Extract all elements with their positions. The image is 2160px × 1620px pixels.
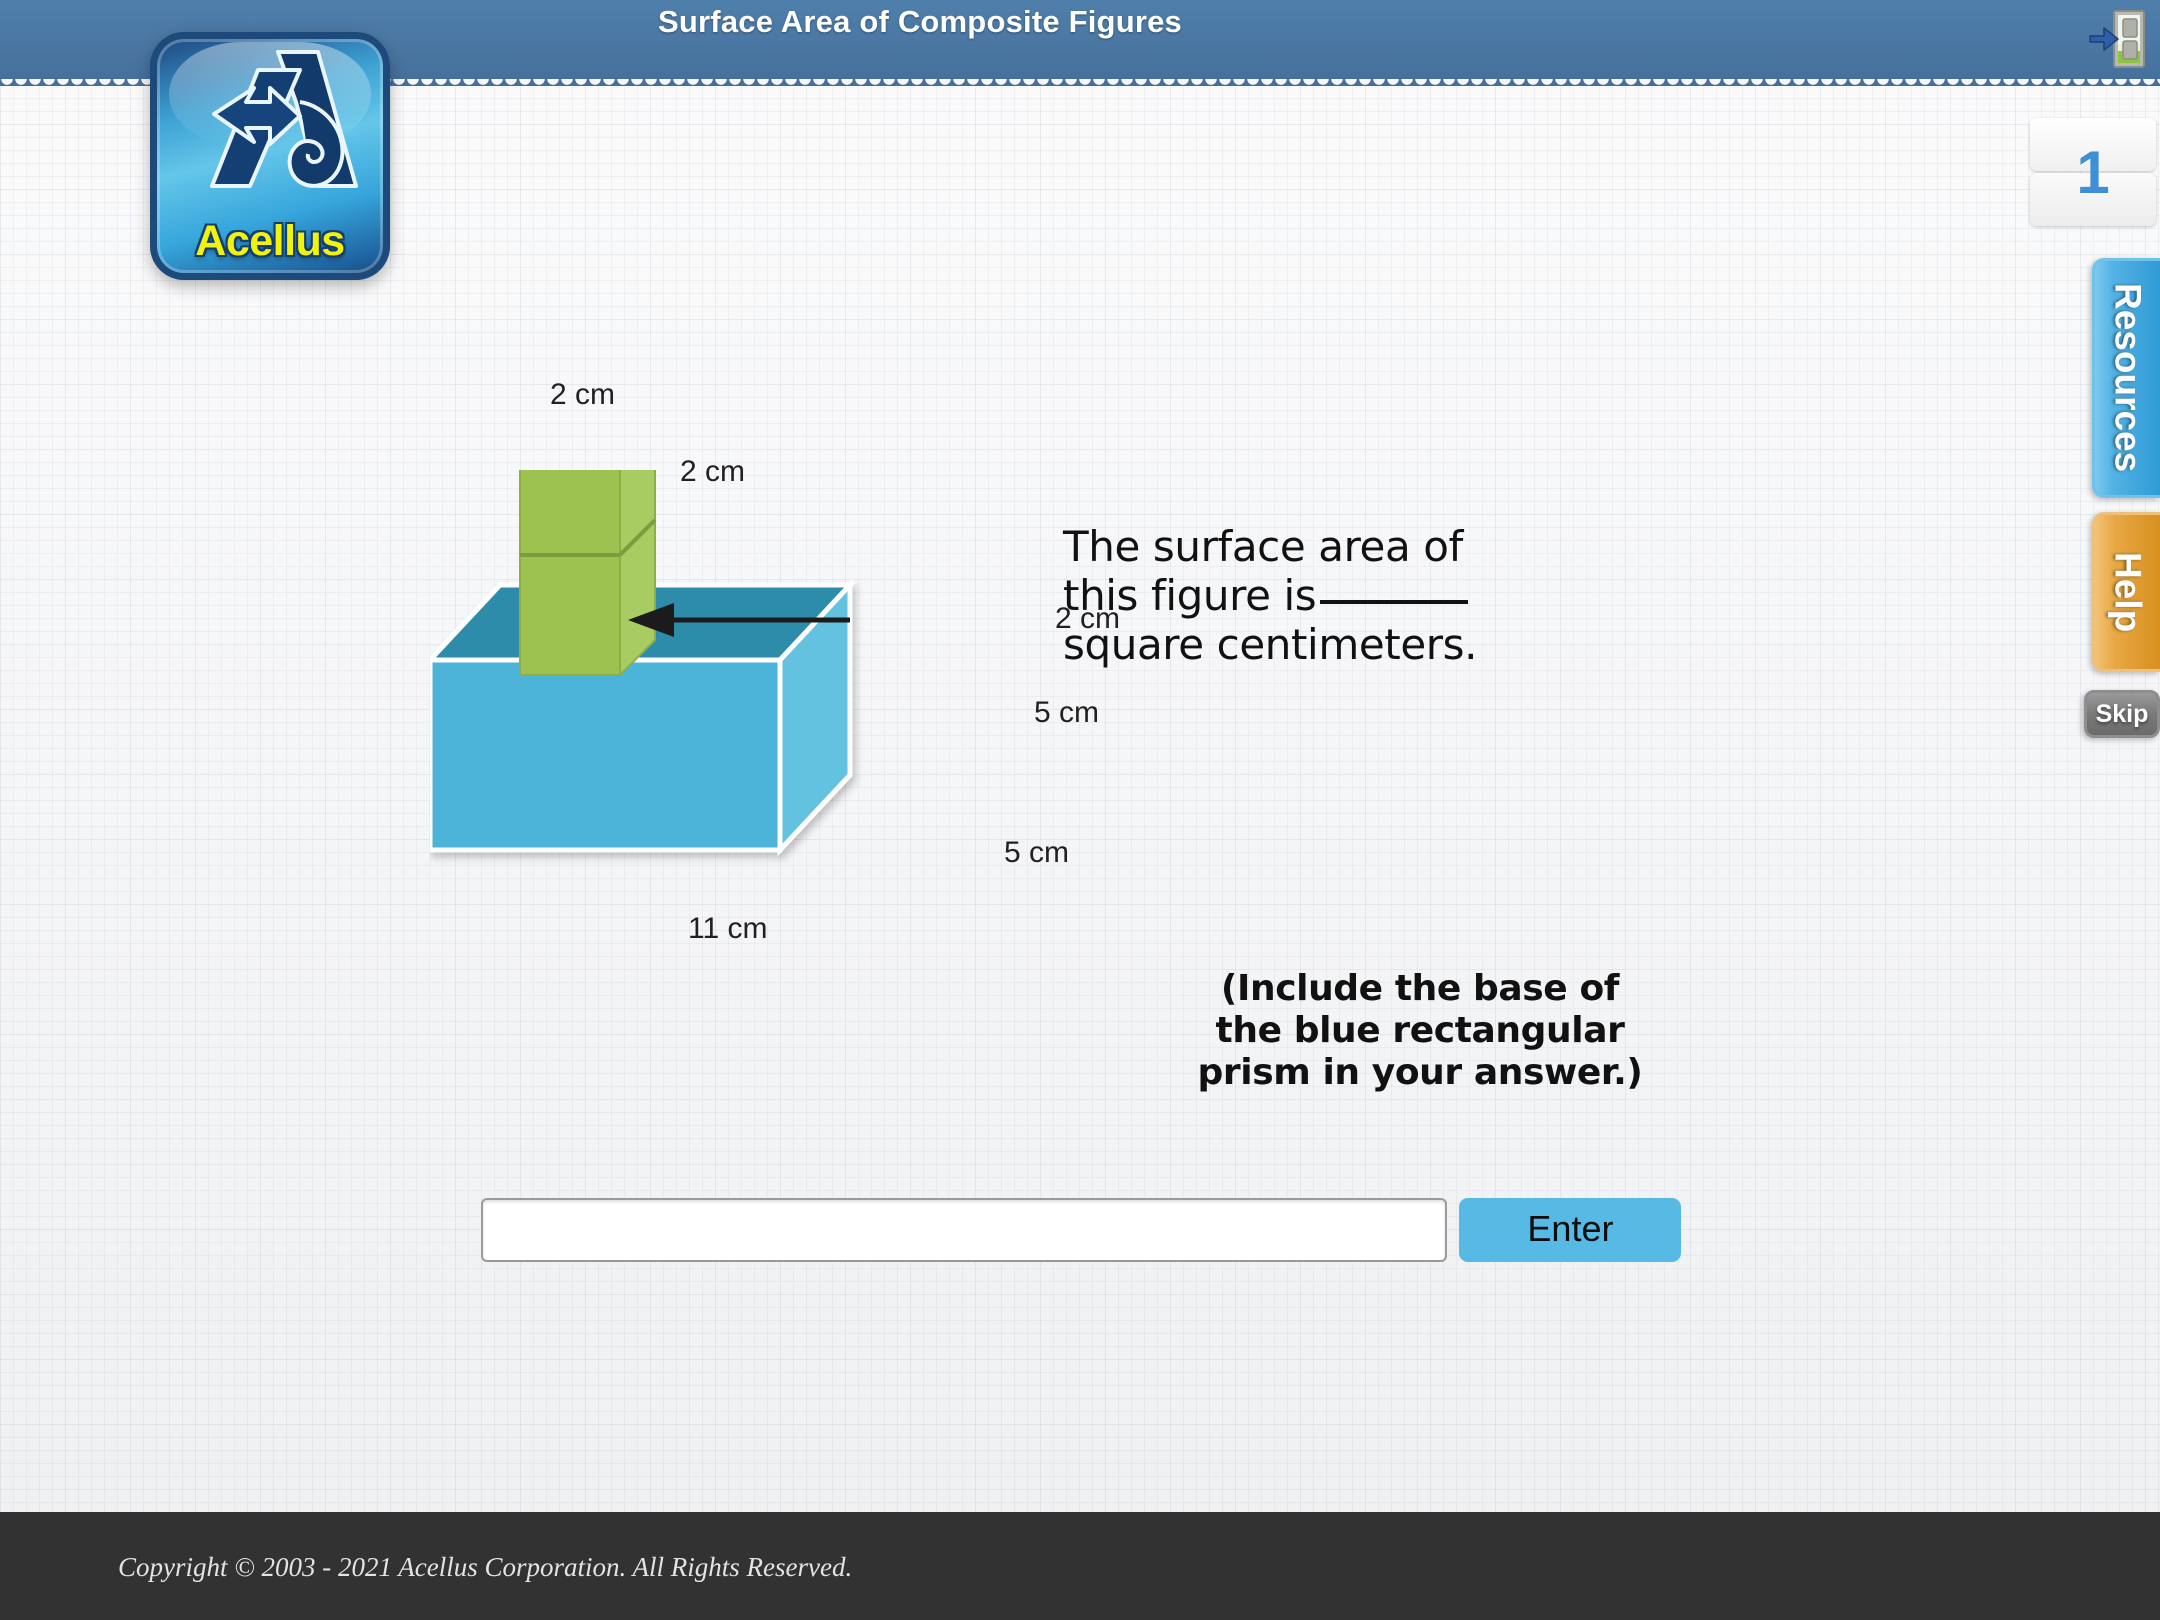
label-prism-depth: 5 cm [1004,836,1069,870]
help-button[interactable]: Help [2092,512,2160,672]
problem-line-1: The surface area of [1063,522,1623,571]
resources-button[interactable]: Resources [2092,258,2160,498]
exit-door-icon[interactable] [2088,6,2148,72]
note-line-3: prism in your answer.) [1170,1052,1670,1094]
label-cube-top-width: 2 cm [550,378,615,412]
acellus-a-arrow-logo [150,36,390,226]
answer-input[interactable] [481,1198,1447,1262]
app-footer: Copyright © 2003 - 2021 Acellus Corporat… [0,1512,2160,1620]
enter-button[interactable]: Enter [1459,1198,1681,1262]
label-cube-right-height: 2 cm [680,455,745,489]
label-prism-height: 5 cm [1034,696,1099,730]
page-counter-value: 1 [2030,118,2156,226]
problem-line-2: this figure is [1063,571,1623,620]
answer-blank-underline [1320,600,1468,604]
label-prism-width: 11 cm [688,912,767,946]
page-counter: 1 [2030,118,2156,226]
problem-statement: The surface area of this figure is squar… [1063,522,1623,669]
note-line-1: (Include the base of [1170,968,1670,1010]
skip-button[interactable]: Skip [2084,690,2160,738]
problem-line-2-text: this figure is [1063,571,1316,620]
acellus-logo[interactable]: Acellus [150,32,390,280]
note-line-2: the blue rectangular [1170,1010,1670,1052]
answer-row: Enter [481,1198,1681,1262]
problem-note: (Include the base of the blue rectangula… [1170,968,1670,1094]
acellus-wordmark: Acellus [150,217,390,266]
problem-line-3: square centimeters. [1063,620,1623,669]
green-cube-stack [520,470,655,675]
copyright-text: Copyright © 2003 - 2021 Acellus Corporat… [118,1552,852,1583]
lesson-page: Surface Area of Composite Figures [0,0,2160,1620]
